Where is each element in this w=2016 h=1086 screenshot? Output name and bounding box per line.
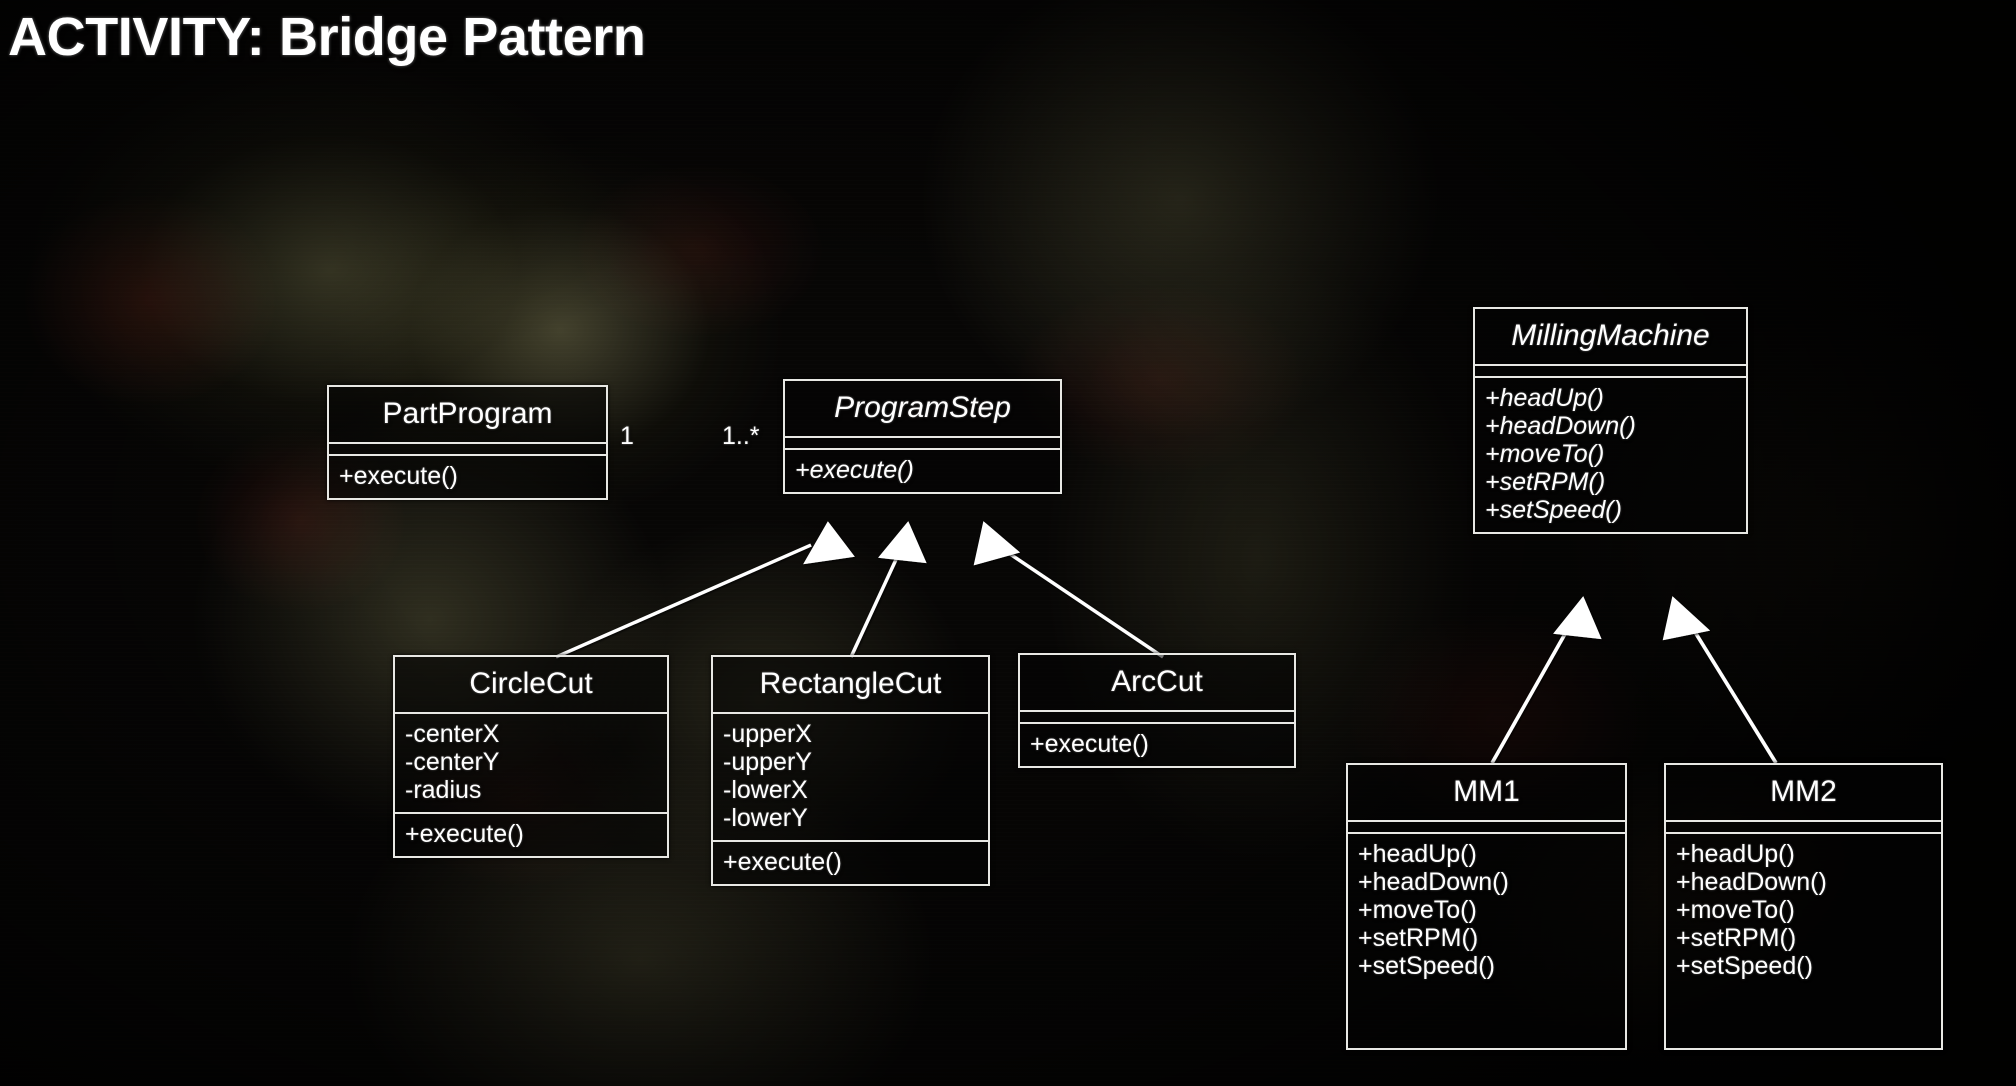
- class-operations-partprogram: +execute(): [329, 456, 606, 498]
- class-box-circlecut[interactable]: CircleCut -centerX -centerY -radius +exe…: [393, 655, 669, 858]
- class-name-mm2: MM2: [1666, 765, 1941, 822]
- class-name-circlecut: CircleCut: [395, 657, 667, 714]
- operation-item: +execute(): [405, 820, 657, 848]
- class-name-mm1: MM1: [1348, 765, 1625, 822]
- class-operations-mm2: +headUp() +headDown() +moveTo() +setRPM(…: [1666, 834, 1941, 988]
- operation-item: +setSpeed(): [1485, 496, 1736, 524]
- inheritance-arrowhead-mm1: [1555, 598, 1600, 638]
- slide-canvas: ACTIVITY: Bridge Pattern 1 1..*: [0, 0, 2016, 1086]
- operation-item: +setRPM(): [1676, 924, 1931, 952]
- class-name-arccut: ArcCut: [1020, 655, 1294, 712]
- inheritance-arrowhead-circlecut: [805, 523, 853, 563]
- attribute-item: -lowerY: [723, 804, 978, 832]
- class-attributes-mm1: [1348, 822, 1625, 834]
- class-operations-rectanglecut: +execute(): [713, 842, 988, 884]
- class-box-millingmachine[interactable]: MillingMachine +headUp() +headDown() +mo…: [1473, 307, 1748, 534]
- operation-item: +headDown(): [1358, 868, 1615, 896]
- multiplicity-target: 1..*: [722, 422, 760, 451]
- class-box-arccut[interactable]: ArcCut +execute(): [1018, 653, 1296, 768]
- attribute-item: -centerX: [405, 720, 657, 748]
- attribute-item: -radius: [405, 776, 657, 804]
- attribute-item: -lowerX: [723, 776, 978, 804]
- class-name-programstep: ProgramStep: [785, 381, 1060, 438]
- class-attributes-arccut: [1020, 712, 1294, 724]
- class-operations-mm1: +headUp() +headDown() +moveTo() +setRPM(…: [1348, 834, 1625, 988]
- class-attributes-rectanglecut: -upperX -upperY -lowerX -lowerY: [713, 714, 988, 842]
- operation-item: +execute(): [339, 462, 596, 490]
- operation-item: +headUp(): [1485, 384, 1736, 412]
- operation-item: +setSpeed(): [1676, 952, 1931, 980]
- class-operations-arccut: +execute(): [1020, 724, 1294, 766]
- inheritance-arrowhead-arccut: [975, 523, 1018, 564]
- inheritance-arrowhead-mm2: [1664, 598, 1708, 639]
- generalization-rectanglecut-programstep: [851, 553, 899, 657]
- attribute-item: -upperX: [723, 720, 978, 748]
- operation-item: +setSpeed(): [1358, 952, 1615, 980]
- class-name-rectanglecut: RectangleCut: [713, 657, 988, 714]
- attribute-item: -upperY: [723, 748, 978, 776]
- generalization-mm2-millingmachine: [1690, 624, 1776, 763]
- class-operations-millingmachine: +headUp() +headDown() +moveTo() +setRPM(…: [1475, 378, 1746, 532]
- class-attributes-circlecut: -centerX -centerY -radius: [395, 714, 667, 814]
- generalization-arccut-programstep: [1007, 552, 1163, 657]
- class-name-millingmachine: MillingMachine: [1475, 309, 1746, 366]
- operation-item: +moveTo(): [1485, 440, 1736, 468]
- class-box-mm1[interactable]: MM1 +headUp() +headDown() +moveTo() +set…: [1346, 763, 1627, 1050]
- inheritance-arrowhead-rectanglecut: [880, 523, 925, 562]
- class-box-programstep[interactable]: ProgramStep +execute(): [783, 379, 1062, 494]
- operation-item: +headUp(): [1676, 840, 1931, 868]
- operation-item: +headDown(): [1485, 412, 1736, 440]
- class-attributes-millingmachine: [1475, 366, 1746, 378]
- operation-item: +headUp(): [1358, 840, 1615, 868]
- class-name-partprogram: PartProgram: [329, 387, 606, 444]
- attribute-item: -centerY: [405, 748, 657, 776]
- operation-item: +setRPM(): [1358, 924, 1615, 952]
- operation-item: +execute(): [795, 456, 1050, 484]
- class-box-mm2[interactable]: MM2 +headUp() +headDown() +moveTo() +set…: [1664, 763, 1943, 1050]
- class-box-partprogram[interactable]: PartProgram +execute(): [327, 385, 608, 500]
- operation-item: +headDown(): [1676, 868, 1931, 896]
- operation-item: +setRPM(): [1485, 468, 1736, 496]
- class-operations-circlecut: +execute(): [395, 814, 667, 856]
- multiplicity-source: 1: [620, 422, 634, 451]
- class-attributes-programstep: [785, 438, 1060, 450]
- class-box-rectanglecut[interactable]: RectangleCut -upperX -upperY -lowerX -lo…: [711, 655, 990, 886]
- operation-item: +moveTo(): [1676, 896, 1931, 924]
- operation-item: +execute(): [723, 848, 978, 876]
- class-operations-programstep: +execute(): [785, 450, 1060, 492]
- class-attributes-mm2: [1666, 822, 1941, 834]
- operation-item: +moveTo(): [1358, 896, 1615, 924]
- class-attributes-partprogram: [329, 444, 606, 456]
- operation-item: +execute(): [1030, 730, 1284, 758]
- generalization-circlecut-programstep: [556, 545, 811, 657]
- generalization-mm1-millingmachine: [1492, 625, 1570, 763]
